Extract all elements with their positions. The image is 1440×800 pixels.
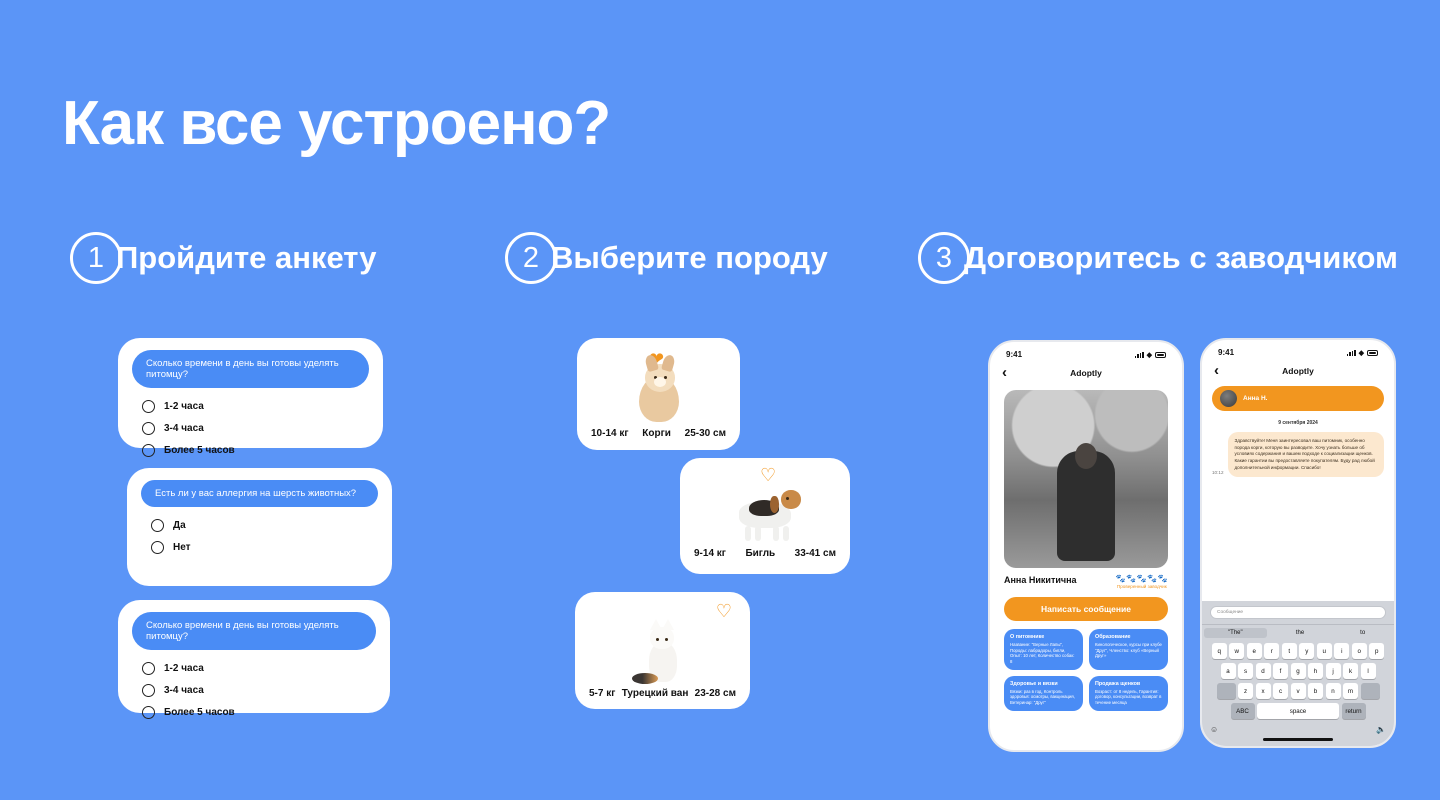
survey-option[interactable]: 3-4 часа: [142, 422, 369, 435]
space-key[interactable]: space: [1257, 703, 1339, 719]
page-title: Как все устроено?: [62, 88, 610, 159]
info-tile-sales[interactable]: Продажа щенков Возраст: от 8 недель, Гар…: [1089, 676, 1168, 711]
step-3-number: 3: [918, 232, 970, 284]
breed-name: Бигль: [745, 548, 775, 559]
breed-weight: 5-7 кг: [589, 688, 615, 699]
survey-question: Сколько времени в день вы готовы уделять…: [132, 612, 376, 650]
radio-icon[interactable]: [142, 684, 155, 697]
key-q[interactable]: q: [1212, 643, 1227, 659]
keyboard-bottom-bar: ☺ 🔈: [1202, 721, 1394, 737]
info-tiles: О питомнике Название: "Верные Лапы", Пор…: [990, 621, 1182, 711]
profile-name-row: Анна Никитична 🐾🐾🐾🐾🐾 Проверенный заводчи…: [990, 568, 1182, 589]
return-key[interactable]: return: [1342, 703, 1366, 719]
info-tile-education[interactable]: Образование Кинологическое, курсы при кл…: [1089, 629, 1168, 670]
survey-option[interactable]: 1-2 часа: [142, 400, 369, 413]
key-i[interactable]: i: [1334, 643, 1349, 659]
chat-contact-header[interactable]: Анна Н.: [1212, 386, 1384, 411]
step-2-label: Выберите породу: [551, 240, 828, 276]
survey-option[interactable]: Более 5 часов: [142, 706, 376, 719]
key-m[interactable]: m: [1343, 683, 1358, 699]
key-p[interactable]: p: [1369, 643, 1384, 659]
survey-card: Сколько времени в день вы готовы уделять…: [118, 338, 383, 448]
prediction-3[interactable]: to: [1331, 630, 1394, 636]
radio-icon[interactable]: [142, 706, 155, 719]
radio-icon[interactable]: [142, 444, 155, 457]
key-s[interactable]: s: [1238, 663, 1253, 679]
step-1-number: 1: [70, 232, 122, 284]
wifi-icon: ◆: [1359, 349, 1364, 357]
message-input[interactable]: Сообщение: [1210, 606, 1386, 619]
battery-icon: [1155, 352, 1166, 358]
info-tile-health[interactable]: Здоровье и вязки Вязки: раз в год, Контр…: [1004, 676, 1083, 711]
radio-icon[interactable]: [142, 422, 155, 435]
step-1-label: Пройдите анкету: [116, 240, 377, 276]
key-b[interactable]: b: [1308, 683, 1323, 699]
key-t[interactable]: t: [1282, 643, 1297, 659]
tile-body: Возраст: от 8 недель, Гарантия: договор,…: [1095, 689, 1162, 706]
survey-option[interactable]: Нет: [151, 541, 378, 554]
survey-options: 1-2 часа 3-4 часа Более 5 часов: [132, 662, 376, 719]
breeder-name: Анна Никитична: [1004, 575, 1077, 585]
key-u[interactable]: u: [1317, 643, 1332, 659]
breed-weight: 9-14 кг: [694, 548, 726, 559]
app-title: Adoptly: [990, 368, 1182, 378]
key-r[interactable]: r: [1264, 643, 1279, 659]
wifi-icon: ◆: [1147, 351, 1152, 359]
signal-icon: [1347, 350, 1356, 356]
radio-icon[interactable]: [142, 400, 155, 413]
prediction-1[interactable]: "The": [1204, 628, 1267, 638]
breed-meta: 10-14 кг Корги 25-30 см: [577, 422, 740, 449]
tile-title: Здоровье и вязки: [1010, 681, 1077, 688]
chat-message-time: 10:12: [1212, 470, 1224, 477]
status-icons: ◆: [1135, 351, 1166, 359]
breed-photo: ♡: [583, 598, 742, 682]
survey-options: 1-2 часа 3-4 часа Более 5 часов: [132, 400, 369, 457]
steps-row: 1 Пройдите анкету 2 Выберите породу 3 До…: [0, 232, 1440, 302]
tile-title: Продажа щенков: [1095, 681, 1162, 688]
heart-icon[interactable]: ♡: [760, 466, 776, 484]
key-g[interactable]: g: [1291, 663, 1306, 679]
shift-key[interactable]: [1217, 683, 1236, 699]
breed-height: 23-28 см: [695, 688, 736, 699]
survey-question: Есть ли у вас аллергия на шерсть животны…: [141, 480, 378, 507]
survey-option-label: Нет: [173, 542, 191, 553]
survey-question: Сколько времени в день вы готовы уделять…: [132, 350, 369, 388]
survey-option-label: Более 5 часов: [164, 707, 235, 718]
step-3-label: Договоритесь с заводчиком: [964, 240, 1398, 276]
key-e[interactable]: e: [1247, 643, 1262, 659]
send-message-button[interactable]: Написать сообщение: [1004, 597, 1168, 621]
key-v[interactable]: v: [1291, 683, 1306, 699]
nav-bar: ‹ Adoptly: [1202, 359, 1394, 384]
survey-option[interactable]: Да: [151, 519, 378, 532]
tile-body: Кинологическое, курсы при клубе "Друг", …: [1095, 642, 1162, 659]
survey-option[interactable]: Более 5 часов: [142, 444, 369, 457]
breeder-photo: [1004, 390, 1168, 568]
key-h[interactable]: h: [1308, 663, 1323, 679]
step-2-number: 2: [505, 232, 557, 284]
key-a[interactable]: a: [1221, 663, 1236, 679]
heart-icon[interactable]: ♡: [716, 602, 732, 620]
key-x[interactable]: x: [1256, 683, 1271, 699]
nav-bar: ‹ Adoptly: [990, 361, 1182, 386]
phone-chat: 9:41 ◆ ‹ Adoptly Анна Н. 9 сентября 2024…: [1200, 338, 1396, 748]
tile-title: О питомнике: [1010, 634, 1077, 641]
breed-card-turkish-van[interactable]: ♡ 5-7 кг Турецкий ван 23-28 см: [575, 592, 750, 709]
paw-rating-icon: 🐾🐾🐾🐾🐾: [1116, 575, 1168, 583]
chat-message-row: 10:12 Здравствуйте! Меня заинтересовал в…: [1202, 426, 1394, 477]
app-title: Adoptly: [1202, 366, 1394, 376]
breed-height: 25-30 см: [685, 428, 726, 439]
battery-icon: [1367, 350, 1378, 356]
chat-message-bubble: Здравствуйте! Меня заинтересовал ваш пит…: [1228, 432, 1385, 477]
survey-option-label: Да: [173, 520, 186, 531]
breed-meta: 9-14 кг Бигль 33-41 см: [680, 542, 850, 569]
breed-height: 33-41 см: [795, 548, 836, 559]
breed-photo: ❤: [585, 344, 732, 422]
survey-option[interactable]: 1-2 часа: [142, 662, 376, 675]
message-input-row: Сообщение: [1202, 601, 1394, 624]
key-w[interactable]: w: [1229, 643, 1244, 659]
breed-name: Турецкий ван: [622, 688, 689, 699]
key-c[interactable]: c: [1273, 683, 1288, 699]
rating-block: 🐾🐾🐾🐾🐾 Проверенный заводчик: [1116, 575, 1168, 589]
breed-card-beagle[interactable]: ♡ 9-14 кг Бигль 33-41 см: [680, 458, 850, 574]
survey-option-label: 1-2 часа: [164, 663, 204, 674]
backspace-key[interactable]: [1361, 683, 1380, 699]
step-3-header: 3 Договоритесь с заводчиком: [918, 232, 1398, 284]
chat-contact-name: Анна Н.: [1243, 395, 1267, 402]
keyboard-row-3: z x c v b n m: [1202, 681, 1394, 701]
key-z[interactable]: z: [1238, 683, 1253, 699]
step-1-header: 1 Пройдите анкету: [70, 232, 377, 284]
survey-option[interactable]: 3-4 часа: [142, 684, 376, 697]
key-n[interactable]: n: [1326, 683, 1341, 699]
tile-title: Образование: [1095, 634, 1162, 641]
survey-option-label: 3-4 часа: [164, 423, 204, 434]
breed-weight: 10-14 кг: [591, 428, 629, 439]
phone-breeder-profile: 9:41 ◆ ‹ Adoptly Анна Никитична 🐾🐾🐾🐾🐾 Пр…: [988, 340, 1184, 752]
key-l[interactable]: l: [1361, 663, 1376, 679]
survey-card: Есть ли у вас аллергия на шерсть животны…: [127, 468, 392, 586]
status-time: 9:41: [1218, 348, 1234, 357]
tile-body: Название: "Верные Лапы", Породы: лабрадо…: [1010, 642, 1077, 665]
keyboard-row-4: ABC space return: [1202, 701, 1394, 721]
status-icons: ◆: [1347, 349, 1378, 357]
prediction-2[interactable]: the: [1269, 630, 1332, 636]
step-2-header: 2 Выберите породу: [505, 232, 828, 284]
radio-icon[interactable]: [151, 519, 164, 532]
breed-name: Корги: [642, 428, 671, 439]
beagle-illustration: [739, 502, 791, 528]
verified-badge: Проверенный заводчик: [1116, 584, 1168, 589]
signal-icon: [1135, 352, 1144, 358]
key-y[interactable]: y: [1299, 643, 1314, 659]
key-f[interactable]: f: [1273, 663, 1288, 679]
info-tile-kennel[interactable]: О питомнике Название: "Верные Лапы", Пор…: [1004, 629, 1083, 670]
status-bar: 9:41 ◆: [1202, 340, 1394, 359]
radio-icon[interactable]: [151, 541, 164, 554]
survey-option-label: 1-2 часа: [164, 401, 204, 412]
cat-illustration: [649, 642, 677, 682]
breed-photo: ♡: [688, 464, 842, 542]
keyboard: Сообщение "The" the to q w e r t y u i o…: [1202, 601, 1394, 746]
survey-options: Да Нет: [141, 519, 378, 554]
key-o[interactable]: o: [1352, 643, 1367, 659]
status-time: 9:41: [1006, 350, 1022, 359]
radio-icon[interactable]: [142, 662, 155, 675]
prediction-bar: "The" the to: [1202, 624, 1394, 641]
survey-option-label: 3-4 часа: [164, 685, 204, 696]
breed-card-corgi[interactable]: ❤ 10-14 кг Корги 25-30 см: [577, 338, 740, 450]
survey-option-label: Более 5 часов: [164, 445, 235, 456]
key-k[interactable]: k: [1343, 663, 1358, 679]
survey-card: Сколько времени в день вы готовы уделять…: [118, 600, 390, 713]
keyboard-row-2: a s d f g h j k l: [1202, 661, 1394, 681]
key-j[interactable]: j: [1326, 663, 1341, 679]
keyboard-row-1: q w e r t y u i o p: [1202, 641, 1394, 661]
key-d[interactable]: d: [1256, 663, 1271, 679]
microphone-icon[interactable]: 🔈: [1376, 725, 1386, 734]
corgi-illustration: [639, 376, 679, 422]
abc-key[interactable]: ABC: [1231, 703, 1255, 719]
emoji-icon[interactable]: ☺: [1210, 725, 1218, 734]
status-bar: 9:41 ◆: [990, 342, 1182, 361]
home-indicator: [1263, 738, 1333, 741]
tile-body: Вязки: раз в год, Контроль здоровья: осм…: [1010, 689, 1077, 706]
avatar: [1220, 390, 1237, 407]
breed-meta: 5-7 кг Турецкий ван 23-28 см: [575, 682, 750, 709]
